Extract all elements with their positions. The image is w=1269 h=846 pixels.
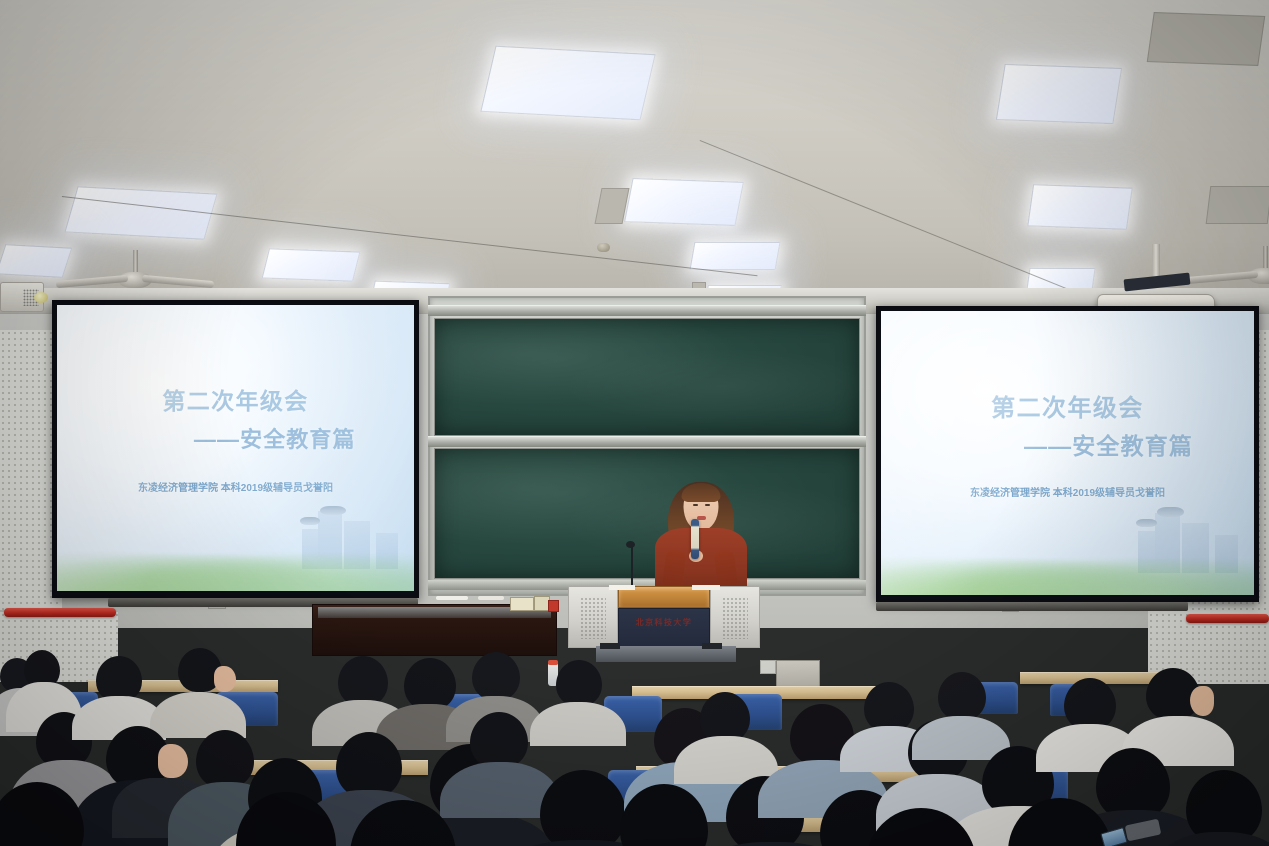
paper-sheet[interactable] xyxy=(609,585,635,590)
ceiling-light-panel xyxy=(480,46,655,120)
student-head xyxy=(556,660,602,706)
student-head xyxy=(472,652,520,700)
lecture-hall-photo: EPSON 第二次年级会 ——安全教育篇 东凌经济管理学院 本科2019级辅导员… xyxy=(0,0,1269,846)
chalk[interactable] xyxy=(478,596,504,600)
fan-blade xyxy=(56,275,128,288)
right-projection-screen[interactable]: 第二次年级会 ——安全教育篇 东凌经济管理学院 本科2019级辅导员戈誉阳 xyxy=(876,306,1259,602)
presenter-eye xyxy=(693,504,698,506)
screen-surface: 第二次年级会 ——安全教育篇 东凌经济管理学院 本科2019级辅导员戈誉阳 xyxy=(881,311,1254,595)
ceiling-light-panel-off xyxy=(1206,186,1269,224)
slide-byline: 东凌经济管理学院 本科2019级辅导员戈誉阳 xyxy=(57,479,414,494)
slide-title: 第二次年级会 xyxy=(881,388,1254,423)
blackboard-middle-rail xyxy=(428,436,866,447)
slide-foliage xyxy=(881,550,1254,595)
student-head xyxy=(1064,678,1116,730)
slide-title: 第二次年级会 xyxy=(57,382,414,416)
ceiling-light-panel xyxy=(262,248,361,281)
presenter xyxy=(652,478,750,600)
ceiling-light-panel xyxy=(0,244,72,278)
student-face xyxy=(1190,686,1214,716)
student-head xyxy=(336,732,402,798)
student-face xyxy=(214,666,236,692)
left-projection-screen[interactable]: 第二次年级会 ——安全教育篇 东凌经济管理学院 本科2019级辅导员戈誉阳 xyxy=(52,300,419,598)
slide-foliage xyxy=(57,545,414,591)
fan-blade xyxy=(1186,271,1258,284)
cardboard-box[interactable] xyxy=(510,597,534,611)
student-head xyxy=(338,656,388,706)
handheld-microphone[interactable] xyxy=(691,519,699,559)
blackboard xyxy=(428,296,866,596)
presenter-eye xyxy=(705,504,710,506)
ceiling-light-panel xyxy=(690,242,781,270)
student-face xyxy=(158,744,188,778)
slide-byline: 东凌经济管理学院 本科2019级辅导员戈誉阳 xyxy=(881,484,1254,499)
blackboard-panel-lower xyxy=(434,448,860,579)
chalk[interactable] xyxy=(436,596,468,600)
ceiling-light-panel xyxy=(1027,184,1132,229)
paper-sheet[interactable] xyxy=(692,585,720,590)
right-screen-bottom-bar xyxy=(876,602,1188,611)
audience-area xyxy=(0,620,1269,846)
student-head xyxy=(404,658,456,710)
slide-subtitle: ——安全教育篇 xyxy=(881,427,1254,461)
presenter-bangs xyxy=(682,483,721,502)
ceiling xyxy=(0,0,1269,312)
mic-head-icon xyxy=(626,541,635,548)
slide-subtitle: ——安全教育篇 xyxy=(57,422,414,454)
ceiling-light-panel xyxy=(624,178,744,226)
smoke-detector-icon xyxy=(597,243,610,252)
ceiling-light-panel xyxy=(64,186,217,239)
ceiling-light-panel xyxy=(996,64,1122,124)
fan-blade xyxy=(142,275,214,288)
student-head xyxy=(938,672,986,720)
red-box[interactable] xyxy=(548,600,559,612)
projector-pole xyxy=(1152,244,1160,278)
student-head xyxy=(864,682,914,732)
student-head xyxy=(470,712,528,768)
ceiling-light-panel-off xyxy=(1147,12,1265,66)
screen-surface: 第二次年级会 ——安全教育篇 东凌经济管理学院 本科2019级辅导员戈誉阳 xyxy=(57,305,414,591)
student-head xyxy=(700,692,750,742)
student-head xyxy=(196,730,254,788)
blackboard-top-rail xyxy=(428,305,866,316)
projector-lens-icon xyxy=(34,292,48,303)
blackboard-panel-upper xyxy=(434,318,860,436)
fire-pipe-left xyxy=(4,608,116,617)
